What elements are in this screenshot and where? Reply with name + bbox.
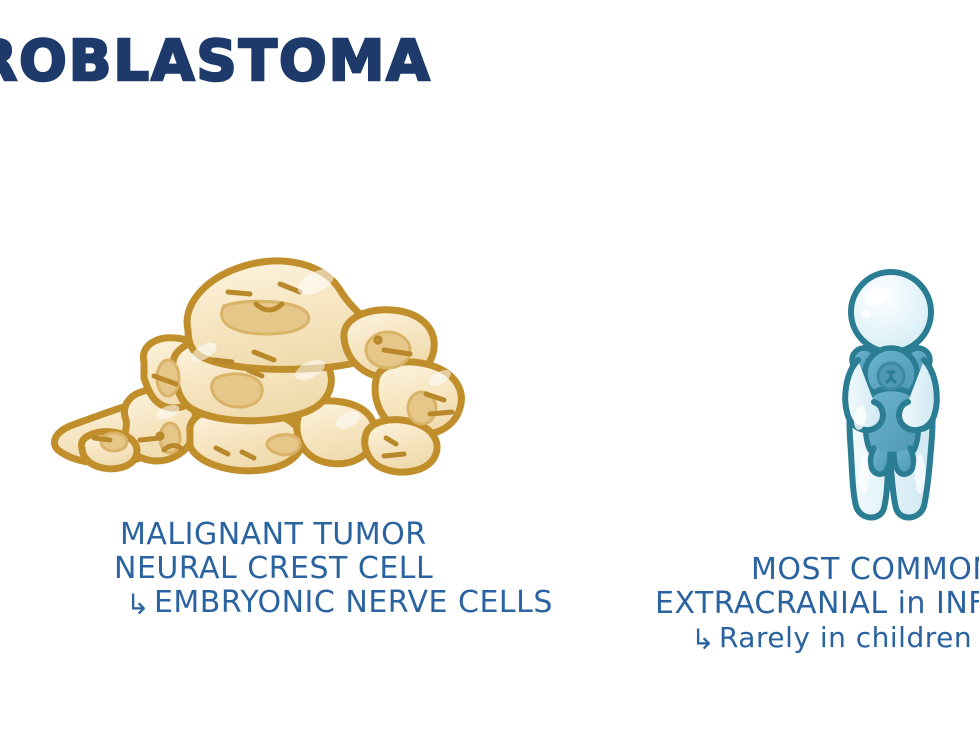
slide-canvas: ROBLASTOMA: [0, 0, 979, 732]
teddy-face: [878, 363, 904, 389]
caption-right-line3: Rarely in children >: [719, 621, 979, 654]
caption-right-line2: EXTRACRANIAL in INF: [655, 587, 979, 621]
caption-right-line1: MOST COMMON: [751, 553, 979, 587]
child-svg: [822, 268, 962, 526]
caption-left-line3: EMBRYONIC NERVE CELLS: [154, 585, 553, 620]
infant-holding-teddy-illustration: [822, 268, 962, 526]
caption-right: MOST COMMON EXTRACRANIAL in INF ↳Rarely …: [655, 553, 979, 655]
caption-left: MALIGNANT TUMOR NEURAL CREST CELL ↳EMBRY…: [120, 518, 553, 620]
page-title: ROBLASTOMA: [0, 34, 432, 90]
caption-left-line1: MALIGNANT TUMOR: [120, 518, 553, 552]
elbow-arrow-icon: ↳: [126, 588, 150, 622]
tumor-svg: [48, 242, 478, 492]
caption-left-line3-row: ↳EMBRYONIC NERVE CELLS: [126, 586, 553, 620]
caption-right-line3-row: ↳Rarely in children >: [691, 621, 979, 655]
tumor-cell: [365, 420, 437, 472]
elbow-arrow-icon: ↳: [691, 623, 715, 657]
caption-left-line2: NEURAL CREST CELL: [114, 552, 553, 586]
tumor-cell-pile-illustration: [48, 242, 478, 492]
